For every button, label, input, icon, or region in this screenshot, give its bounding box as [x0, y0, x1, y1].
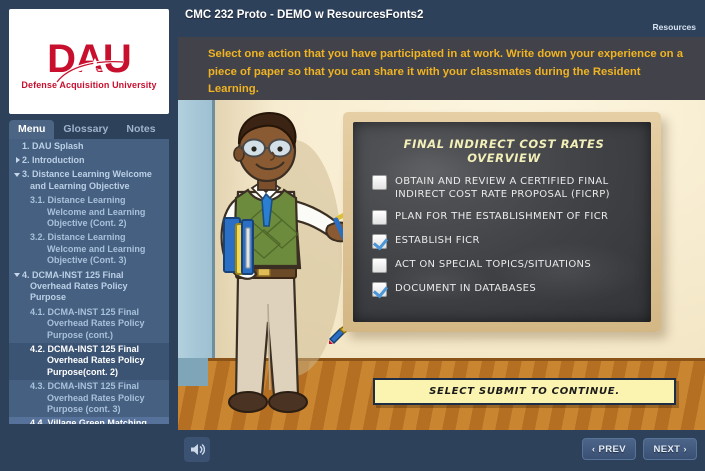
option-label: ESTABLISH FICR — [395, 233, 480, 247]
submit-hint-banner: SELECT SUBMIT TO CONTINUE. — [373, 378, 676, 405]
outline-item-8[interactable]: 4.2. DCMA-INST 125 Final Overhead Rates … — [9, 343, 169, 380]
resources-link[interactable]: Resources — [653, 22, 696, 32]
sidebar: DAU Defense Acquisition University Menu — [0, 0, 178, 471]
option-checkbox-3[interactable] — [372, 234, 387, 249]
outline-item-label: 4.2. DCMA-INST 125 Final Overhead Rates … — [47, 344, 165, 378]
outline-item-9[interactable]: 4.3. DCMA-INST 125 Final Overhead Rates … — [9, 380, 169, 417]
audio-toggle-button[interactable] — [184, 437, 210, 462]
course-outline-tree[interactable]: 1. DAU Splash2. Introduction3. Distance … — [9, 139, 169, 424]
chalkboard: FINAL INDIRECT COST RATES OVERVIEW OBTAI… — [343, 112, 661, 332]
outline-item-4[interactable]: 3.1. Distance Learning Welcome and Learn… — [9, 194, 169, 231]
chalkboard-surface: FINAL INDIRECT COST RATES OVERVIEW OBTAI… — [353, 122, 651, 322]
option-row[interactable]: PLAN FOR THE ESTABLISHMENT OF FICR — [367, 209, 641, 225]
dau-logo: DAU Defense Acquisition University — [9, 9, 169, 114]
outline-item-label: 3.1. Distance Learning Welcome and Learn… — [47, 195, 165, 229]
outline-item-label: 4.1. DCMA-INST 125 Final Overhead Rates … — [47, 307, 165, 341]
footer-nav: ‹ PREV NEXT › — [178, 430, 705, 471]
chevron-right-icon[interactable] — [16, 157, 20, 163]
option-row[interactable]: ESTABLISH FICR — [367, 233, 641, 249]
option-label: DOCUMENT IN DATABASES — [395, 281, 536, 295]
option-label: OBTAIN AND REVIEW A CERTIFIED FINAL INDI… — [395, 174, 641, 201]
outline-item-label: 3.2. Distance Learning Welcome and Learn… — [47, 232, 165, 266]
option-checkbox-4[interactable] — [372, 258, 387, 273]
sidebar-tabs: Menu Glossary Notes — [9, 120, 169, 139]
tab-glossary[interactable]: Glossary — [54, 120, 117, 139]
outline-item-label: 4.4. Village Green Matching — [47, 418, 165, 424]
submit-hint-text: SELECT SUBMIT TO CONTINUE. — [429, 386, 620, 397]
page-title: CMC 232 Proto - DEMO w ResourcesFonts2 — [185, 9, 423, 21]
outline-item-7[interactable]: 4.1. DCMA-INST 125 Final Overhead Rates … — [9, 305, 169, 342]
option-label: PLAN FOR THE ESTABLISHMENT OF FICR — [395, 209, 608, 223]
instructor-illustration — [186, 108, 366, 426]
lesson-scene: FINAL INDIRECT COST RATES OVERVIEW OBTAI… — [178, 100, 705, 430]
outline-item-1[interactable]: 1. DAU Splash — [9, 139, 169, 153]
dau-wordmark: DAU — [47, 40, 131, 78]
outline-item-10[interactable]: 4.4. Village Green Matching — [9, 417, 169, 424]
option-row[interactable]: OBTAIN AND REVIEW A CERTIFIED FINAL INDI… — [367, 174, 641, 201]
option-row[interactable]: ACT ON SPECIAL TOPICS/SITUATIONS — [367, 257, 641, 273]
chevron-down-icon[interactable] — [14, 173, 20, 177]
dau-wordmark-text: DAU — [47, 37, 131, 81]
option-row[interactable]: DOCUMENT IN DATABASES — [367, 281, 641, 297]
next-button[interactable]: NEXT › — [643, 438, 697, 460]
tab-menu[interactable]: Menu — [9, 120, 54, 139]
tab-notes[interactable]: Notes — [117, 120, 164, 139]
outline-item-2[interactable]: 2. Introduction — [9, 153, 169, 167]
outline-item-3[interactable]: 3. Distance Learning Welcome and Learnin… — [9, 168, 169, 194]
outline-item-6[interactable]: 4. DCMA-INST 125 Final Overhead Rates Po… — [9, 268, 169, 305]
header: CMC 232 Proto - DEMO w ResourcesFonts2 R… — [178, 0, 705, 37]
prev-button[interactable]: ‹ PREV — [582, 438, 636, 460]
chalkboard-title: FINAL INDIRECT COST RATES OVERVIEW — [367, 137, 641, 165]
option-checkbox-2[interactable] — [372, 210, 387, 225]
instruction-bar: Select one action that you have particip… — [178, 37, 705, 100]
outline-item-label: 3. Distance Learning Welcome and Learnin… — [30, 169, 165, 192]
outline-item-label: 1. DAU Splash — [30, 141, 165, 152]
outline-item-5[interactable]: 3.2. Distance Learning Welcome and Learn… — [9, 231, 169, 268]
option-label: ACT ON SPECIAL TOPICS/SITUATIONS — [395, 257, 591, 271]
course-player: DAU Defense Acquisition University Menu — [0, 0, 705, 471]
chevron-down-icon[interactable] — [14, 273, 20, 277]
outline-item-label: 4.3. DCMA-INST 125 Final Overhead Rates … — [47, 381, 165, 415]
option-list: OBTAIN AND REVIEW A CERTIFIED FINAL INDI… — [367, 174, 641, 297]
outline-item-label: 4. DCMA-INST 125 Final Overhead Rates Po… — [30, 270, 165, 304]
option-checkbox-1[interactable] — [372, 175, 387, 190]
option-checkbox-5[interactable] — [372, 282, 387, 297]
outline-item-label: 2. Introduction — [30, 155, 165, 166]
dau-subtitle: Defense Acquisition University — [9, 80, 169, 90]
speaker-icon — [190, 443, 205, 456]
instruction-text: Select one action that you have particip… — [208, 46, 687, 99]
